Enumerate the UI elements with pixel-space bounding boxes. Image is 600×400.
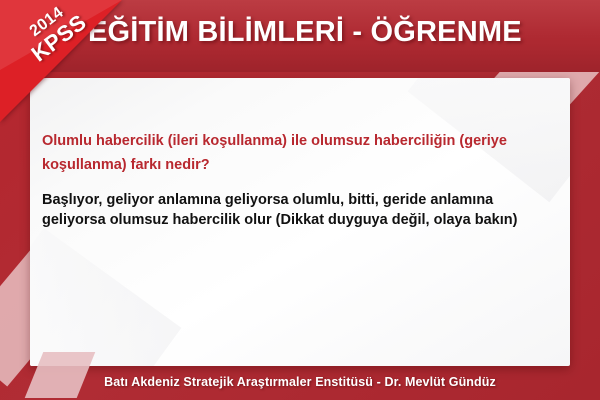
footer-bar: Batı Akdeniz Stratejik Araştırmaler Enst… [0, 364, 600, 400]
answer-text: Başlıyor, geliyor anlamına geliyorsa olu… [42, 190, 558, 230]
footer-credit: Batı Akdeniz Stratejik Araştırmaler Enst… [0, 364, 600, 400]
card-fold-bottom-left [30, 228, 181, 366]
question-text: Olumlu habercilik (ileri koşullanma) ile… [42, 130, 558, 178]
page-title: EĞİTİM BİLİMLERİ - ÖĞRENME [88, 16, 522, 49]
slide-canvas: EĞİTİM BİLİMLERİ - ÖĞRENME 2014 KPSS Olu… [0, 0, 600, 400]
corner-badge: 2014 KPSS [0, 0, 128, 128]
card-body: Olumlu habercilik (ileri koşullanma) ile… [42, 130, 558, 230]
